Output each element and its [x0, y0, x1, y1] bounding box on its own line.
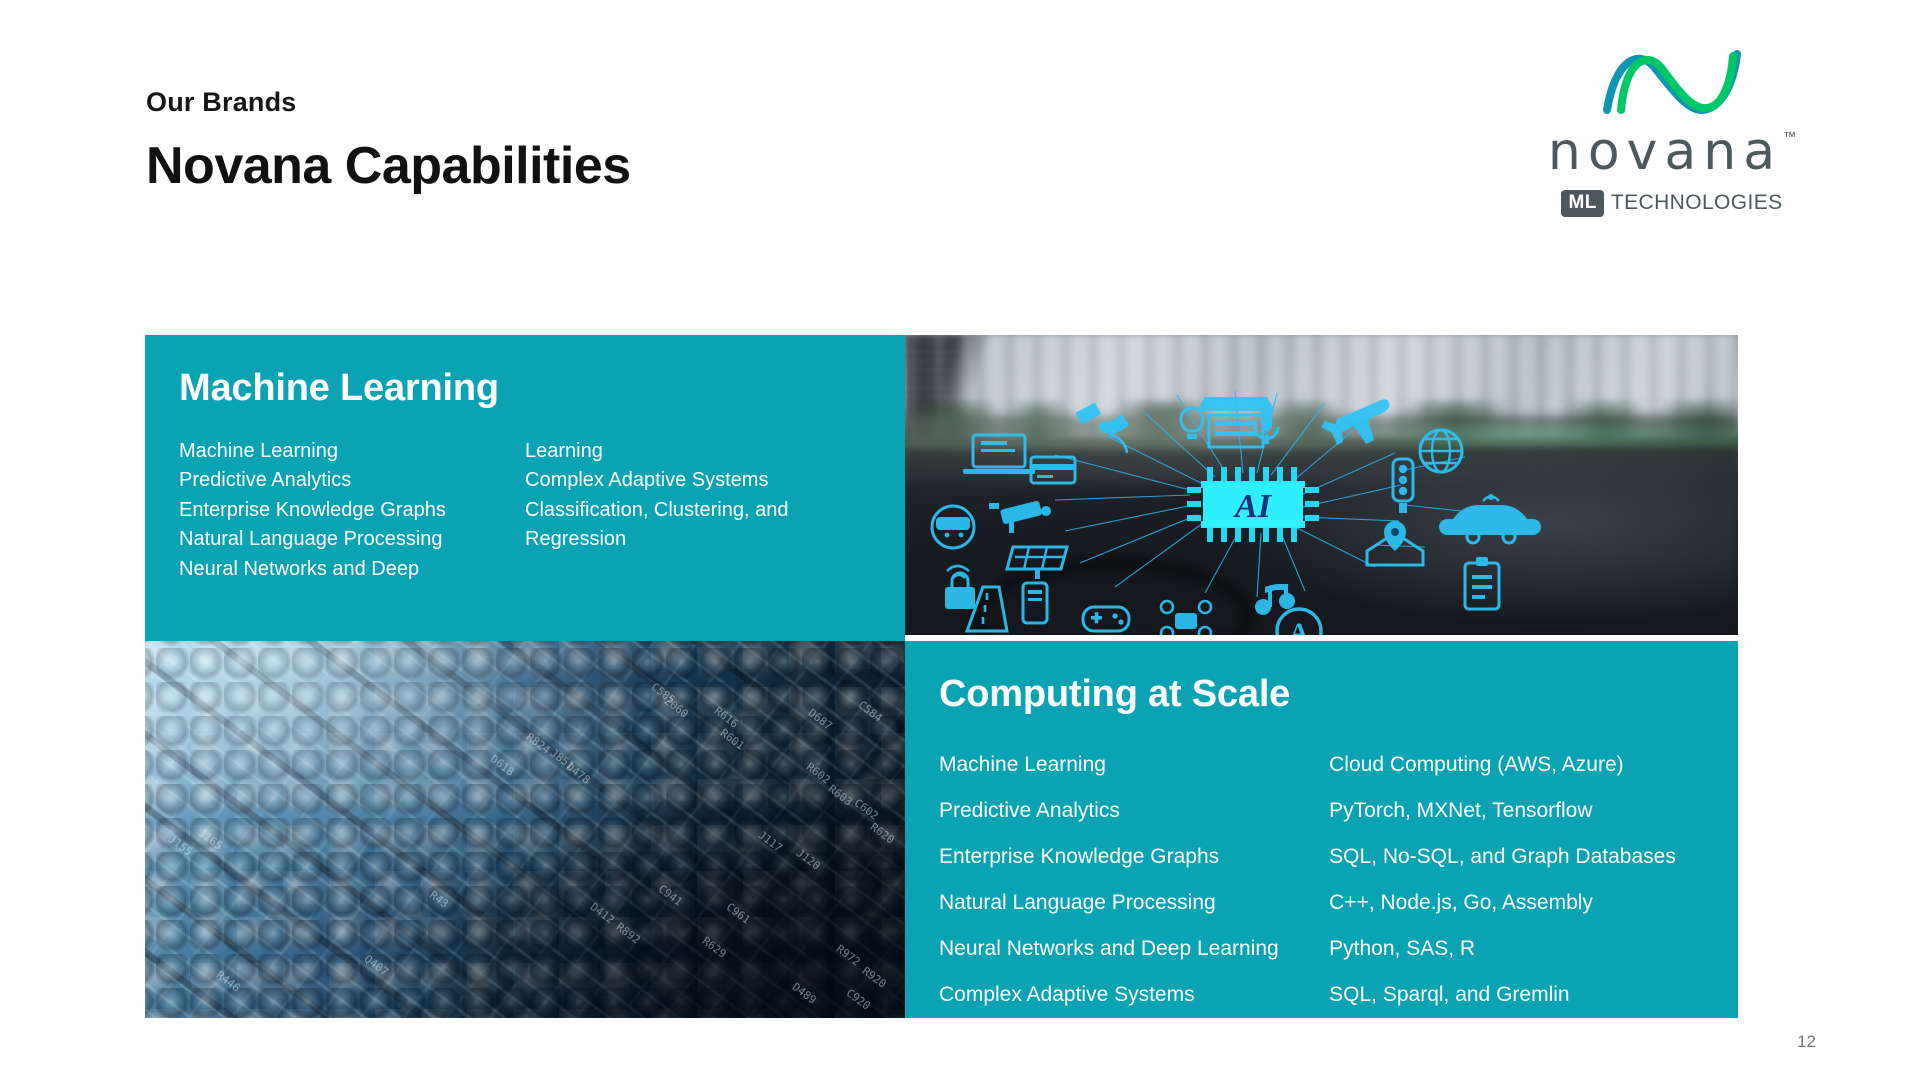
pcb-label: J120: [794, 846, 823, 872]
list-item: Complex Adaptive Systems: [939, 981, 1317, 1010]
list-item: Cloud Computing (AWS, Azure): [1329, 751, 1700, 780]
list-item: PyTorch, MXNet, Tensorflow: [1329, 797, 1700, 826]
pcb-label: C941: [656, 882, 685, 908]
list-item: Learning: [525, 437, 859, 467]
computing-at-scale-panel: Computing at Scale Machine Learning Pred…: [905, 641, 1738, 1018]
list-item: SQL, Sparql, and Gremlin: [1329, 981, 1700, 1010]
list-item: Predictive Analytics: [939, 797, 1317, 826]
logo-wordmark: novana: [1548, 126, 1782, 178]
cctv-camera-icon: [989, 500, 1051, 533]
list-item: Complex Adaptive Systems: [525, 466, 859, 496]
pcb-label: R824: [524, 730, 553, 756]
self-driving-car-icon: [1439, 494, 1541, 543]
pcb-component-labels: C585 R616 R601 D687 C584 R602 R603 C602 …: [145, 641, 905, 1018]
computing-at-scale-panel-body: Computing at Scale Machine Learning Pred…: [905, 641, 1738, 1018]
machine-learning-title: Machine Learning: [179, 367, 871, 411]
list-item: Neural Networks and Deep: [179, 555, 513, 585]
ai-city-image: A: [905, 335, 1738, 635]
ai-icon-network: A: [905, 335, 1738, 635]
list-item: Regression: [525, 525, 859, 555]
pcb-label: R43: [427, 888, 451, 910]
pcb-label: C584: [856, 698, 885, 724]
pcb-label: R446: [214, 968, 243, 994]
logo-subtitle: TECHNOLOGIES: [1611, 191, 1783, 215]
logo-wordmark-row: novana ™: [1548, 126, 1796, 178]
airplane-icon: [1321, 399, 1389, 445]
pcb-label: R603: [826, 782, 855, 808]
computing-at-scale-columns: Machine Learning Predictive Analytics En…: [939, 751, 1704, 1018]
list-item: Natural Language Processing: [939, 889, 1317, 918]
list-item: Enterprise Knowledge Graphs: [939, 843, 1317, 872]
ai-chip-label: AI: [1233, 488, 1273, 525]
computing-at-scale-column-left: Machine Learning Predictive Analytics En…: [939, 751, 1329, 1018]
header: Our Brands Novana Capabilities: [146, 86, 631, 198]
machine-learning-column-left: Machine Learning Predictive Analytics En…: [179, 437, 525, 585]
pcb-label: D489: [790, 980, 819, 1006]
list-item: Neural Networks and Deep Learning: [939, 935, 1317, 964]
list-item: Predictive Analytics: [179, 466, 513, 496]
ml-badge: ML: [1561, 190, 1603, 217]
page-title: Novana Capabilities: [146, 135, 631, 197]
pcb-label: R629: [700, 934, 729, 960]
machine-learning-columns: Machine Learning Predictive Analytics En…: [179, 437, 871, 585]
circled-a-icon: A: [1277, 609, 1321, 635]
list-item: Machine Learning: [179, 437, 513, 467]
microphone-icon: [1255, 407, 1278, 444]
pcb-label: C602: [852, 796, 881, 822]
pcb-label: R920: [860, 964, 889, 990]
list-item: C++, Node.js, Go, Assembly: [1329, 889, 1700, 918]
pcb-label: R972: [834, 942, 863, 968]
novana-wave-mark: [1601, 42, 1743, 120]
trademark-symbol: ™: [1783, 130, 1796, 143]
list-item: Enterprise Knowledge Graphs: [179, 496, 513, 526]
ai-city-photo-backdrop: A: [905, 335, 1738, 635]
pcb-label: R620: [868, 820, 897, 846]
novana-logo: novana ™ ML TECHNOLOGIES: [1552, 42, 1792, 217]
credit-card-icon: [1031, 457, 1075, 483]
smartphone-icon: [1023, 583, 1047, 623]
list-item: Machine Learning: [939, 751, 1317, 780]
machine-learning-panel-body: Machine Learning Machine Learning Predic…: [145, 335, 905, 641]
computing-at-scale-column-right: Cloud Computing (AWS, Azure) PyTorch, MX…: [1329, 751, 1712, 1018]
circuit-board-photo-backdrop: C585 R616 R601 D687 C584 R602 R603 C602 …: [145, 641, 905, 1018]
svg-text:A: A: [1290, 618, 1309, 635]
computing-at-scale-title: Computing at Scale: [939, 673, 1704, 717]
wifi-lock-icon: [945, 566, 975, 609]
pcb-label: J155: [166, 832, 195, 858]
pcb-label: D687: [806, 706, 835, 732]
pcb-label: J165: [196, 826, 225, 852]
vr-glasses-icon: [932, 506, 974, 548]
pcb-label: Z060: [662, 694, 691, 720]
page-number: 12: [1797, 1032, 1816, 1052]
machine-learning-column-right: Learning Complex Adaptive Systems Classi…: [525, 437, 871, 585]
list-item: Python, SAS, R: [1329, 935, 1700, 964]
drone-icon: [1161, 601, 1211, 635]
lightbulb-icon: [1181, 408, 1203, 439]
pcb-label: R892: [614, 920, 643, 946]
ai-chip-icon: AI: [1187, 467, 1319, 542]
laptop-icon: [963, 435, 1035, 474]
capabilities-grid: Machine Learning Machine Learning Predic…: [145, 335, 1738, 1018]
machine-learning-panel: Machine Learning Machine Learning Predic…: [145, 335, 905, 641]
list-item: SQL, No-SQL, and Graph Databases: [1329, 843, 1700, 872]
pcb-label: Q407: [362, 952, 391, 978]
pcb-label: D618: [488, 752, 517, 778]
eyebrow-label: Our Brands: [146, 86, 631, 118]
pcb-label: R602: [804, 760, 833, 786]
pcb-label: C961: [724, 900, 753, 926]
circuit-board-image: C585 R616 R601 D687 C584 R602 R603 C602 …: [145, 641, 905, 1018]
pcb-label: C920: [844, 986, 873, 1012]
slide: Our Brands Novana Capabilities novana ™ …: [0, 0, 1920, 1080]
list-item: Classification, Clustering, and: [525, 496, 859, 526]
satellite-icon: [1075, 403, 1129, 453]
pcb-label: J117: [756, 828, 785, 854]
pcb-label: D412: [588, 900, 617, 926]
list-item: Natural Language Processing: [179, 525, 513, 555]
location-pin-icon: [1367, 521, 1423, 565]
gamepad-icon: [1083, 607, 1129, 631]
logo-subtitle-row: ML TECHNOLOGIES: [1561, 190, 1782, 217]
globe-icon: [1420, 430, 1462, 472]
ai-network-graphic: A: [905, 335, 1738, 635]
clipboard-icon: [1465, 557, 1499, 609]
solar-panel-icon: [1007, 547, 1067, 579]
